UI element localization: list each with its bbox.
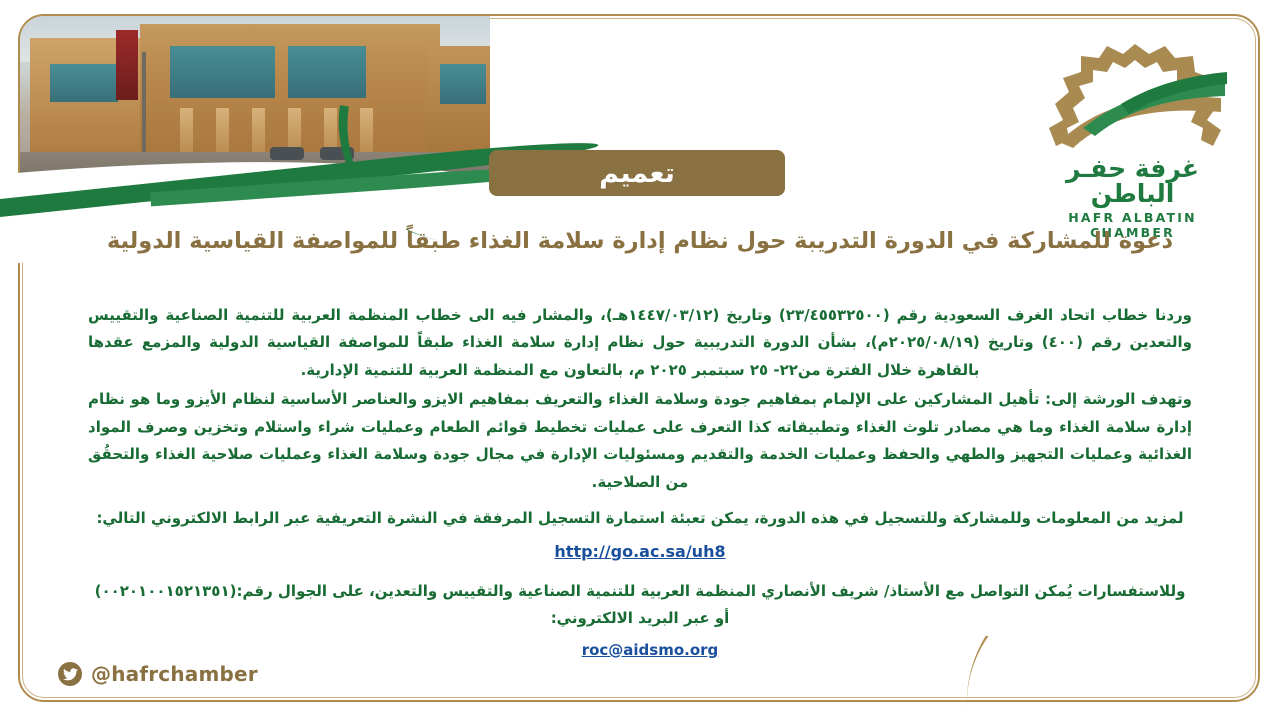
- photo-window-glass: [440, 64, 486, 104]
- body-content: وردنا خطاب اتحاد الغرف السعودية رقم (٢٣/…: [88, 302, 1192, 664]
- paragraph-contact: وللاستفسارات يُمكن التواصل مع الأستاذ/ ش…: [88, 578, 1192, 633]
- registration-link-row: http://go.ac.sa/uh8: [88, 537, 1192, 566]
- photo-window-glass: [288, 46, 366, 98]
- chamber-logo: غرفة حفـر الباطن HAFR ALBATIN CHAMBER: [1025, 42, 1240, 210]
- photo-car: [270, 147, 304, 160]
- twitter-bird-icon[interactable]: [58, 662, 82, 686]
- logo-gear-dunes-icon: [1025, 42, 1240, 154]
- photo-window-glass: [50, 64, 118, 102]
- social-footer[interactable]: @hafrchamber: [58, 662, 258, 686]
- twitter-bird-glyph: [63, 668, 78, 681]
- paragraph-objectives: وتهدف الورشة إلى: تأهيل المشاركين على ال…: [88, 386, 1192, 496]
- circular-type-badge: تعميم: [489, 150, 785, 196]
- contact-email-link[interactable]: roc@aidsmo.org: [582, 637, 719, 664]
- page-title: دعوة للمشاركة في الدورة التدريبة حول نظا…: [60, 226, 1220, 256]
- paragraph-registration: لمزيد من المعلومات وللمشاركة وللتسجيل في…: [88, 505, 1192, 532]
- email-link-row: roc@aidsmo.org: [88, 637, 1192, 664]
- registration-link[interactable]: http://go.ac.sa/uh8: [554, 537, 725, 566]
- paragraph-reference: وردنا خطاب اتحاد الغرف السعودية رقم (٢٣/…: [88, 302, 1192, 384]
- photo-banner: [116, 30, 138, 100]
- logo-arabic-name: غرفة حفـر الباطن: [1025, 156, 1240, 206]
- twitter-handle[interactable]: @hafrchamber: [91, 662, 258, 686]
- photo-flag-pole: [142, 52, 146, 156]
- photo-window-glass: [170, 46, 275, 98]
- circular-page: غرفة حفـر الباطن HAFR ALBATIN CHAMBER تع…: [0, 0, 1280, 720]
